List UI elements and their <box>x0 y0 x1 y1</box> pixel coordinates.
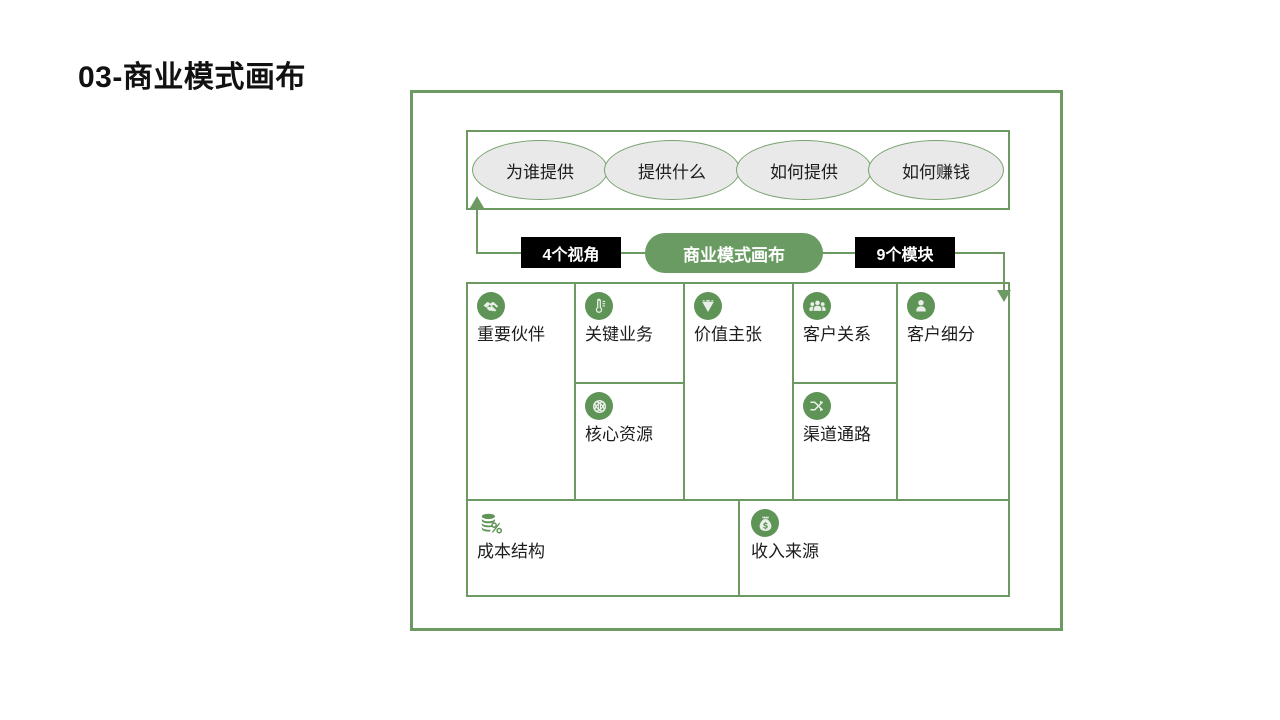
perspective-ellipse-2[interactable]: 提供什么 <box>604 140 740 200</box>
block-label-revenue-streams: 收入来源 <box>751 541 999 562</box>
shuffle-arrows-icon <box>803 392 831 420</box>
arrow-down-icon <box>997 290 1011 302</box>
perspective-ellipse-3[interactable]: 如何提供 <box>736 140 872 200</box>
connector-line-right-middle <box>818 252 860 254</box>
block-label-key-resources: 核心资源 <box>585 424 674 445</box>
block-key-resources[interactable]: 核心资源 <box>576 384 685 499</box>
business-model-canvas-frame: 为谁提供 提供什么 如何提供 如何赚钱 4个视角 商业模式画布 9个模块 <box>410 90 1063 631</box>
perspectives-box: 为谁提供 提供什么 如何提供 如何赚钱 <box>466 130 1010 210</box>
block-label-key-activities: 关键业务 <box>585 324 674 345</box>
block-channels[interactable]: 渠道通路 <box>794 384 898 499</box>
perspectives-ellipse-row: 为谁提供 提供什么 如何提供 如何赚钱 <box>468 132 1008 208</box>
perspective-label-1: 为谁提供 <box>506 158 574 183</box>
connector-line-right-horizontal <box>953 252 1005 254</box>
connector-line-left-vertical <box>476 205 478 254</box>
block-customer-relationships[interactable]: 客户关系 <box>794 284 898 384</box>
block-label-cost-structure: 成本结构 <box>477 541 729 562</box>
connector-line-right-vertical <box>1003 252 1005 293</box>
people-group-icon <box>803 292 831 320</box>
block-label-customer-relationships: 客户关系 <box>803 324 887 345</box>
perspective-ellipse-1[interactable]: 为谁提供 <box>472 140 608 200</box>
block-key-partners[interactable]: 重要伙伴 <box>468 284 576 499</box>
block-value-proposition[interactable]: 价值主张 <box>685 284 794 499</box>
coins-percent-icon <box>477 509 505 537</box>
block-revenue-streams[interactable]: 收入来源 <box>742 501 1008 595</box>
block-label-value-proposition: 价值主张 <box>694 324 783 345</box>
person-icon <box>907 292 935 320</box>
connector-row: 4个视角 商业模式画布 9个模块 <box>413 220 1066 282</box>
nine-blocks-grid: 重要伙伴 关键业务 <box>466 282 1010 597</box>
atom-icon <box>585 392 613 420</box>
block-label-channels: 渠道通路 <box>803 424 887 445</box>
handshake-icon <box>477 292 505 320</box>
block-label-key-partners: 重要伙伴 <box>477 324 565 345</box>
block-key-activities[interactable]: 关键业务 <box>576 284 685 384</box>
block-customer-segments[interactable]: 客户细分 <box>898 284 1008 499</box>
page-title: 03-商业模式画布 <box>78 52 306 96</box>
perspective-label-3: 如何提供 <box>770 158 838 183</box>
perspective-label-2: 提供什么 <box>638 158 706 183</box>
thermometer-icon <box>585 292 613 320</box>
arrow-up-icon <box>470 196 484 208</box>
perspectives-count-tag[interactable]: 4个视角 <box>521 237 621 268</box>
block-label-customer-segments: 客户细分 <box>907 324 999 345</box>
perspective-label-4: 如何赚钱 <box>902 158 970 183</box>
connector-line-left-horizontal <box>476 252 526 254</box>
diamond-icon <box>694 292 722 320</box>
money-bag-icon <box>751 509 779 537</box>
perspective-ellipse-4[interactable]: 如何赚钱 <box>868 140 1004 200</box>
block-cost-structure[interactable]: 成本结构 <box>468 501 740 595</box>
center-title-pill[interactable]: 商业模式画布 <box>645 233 823 273</box>
modules-count-tag[interactable]: 9个模块 <box>855 237 955 268</box>
